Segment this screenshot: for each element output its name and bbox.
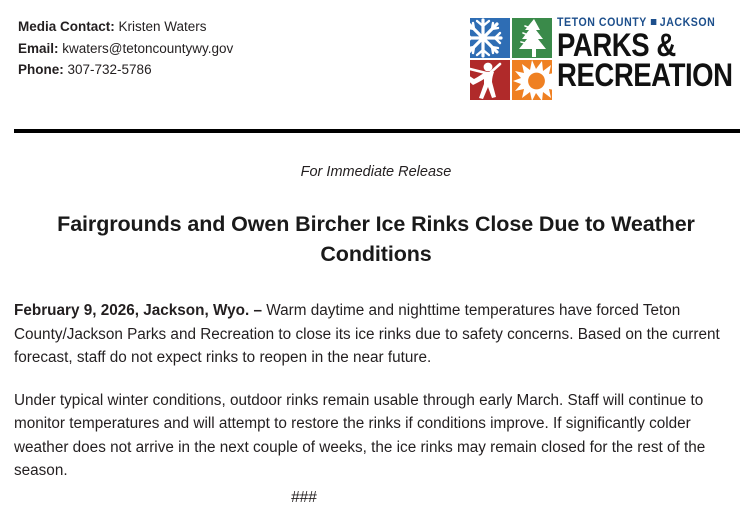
press-release-page: { "header": { "contact": [ { "label": "M…	[0, 0, 752, 515]
paragraph-one: February 9, 2026, Jackson, Wyo. – Warm d…	[14, 299, 738, 370]
document-header: Media Contact: Kristen Waters Email: kwa…	[0, 0, 752, 128]
person-figure-icon	[456, 58, 512, 102]
email-line: Email: kwaters@tetoncountywy.gov	[18, 38, 233, 60]
logo-tile-recreation-figure	[470, 60, 510, 100]
logo-tile-winter	[470, 18, 510, 58]
email-label: Email:	[18, 41, 59, 56]
logo-word-parks: PARKS &	[557, 30, 708, 60]
dateline: February 9, 2026, Jackson, Wyo. –	[14, 302, 262, 319]
end-of-release-mark: ###	[14, 487, 594, 509]
evergreen-tree-icon	[512, 17, 552, 59]
logo-mark	[466, 18, 554, 106]
page-title: Fairgrounds and Owen Bircher Ice Rinks C…	[44, 209, 708, 269]
logo-tile-sun	[512, 60, 552, 100]
phone-value: 307-732-5786	[64, 62, 152, 77]
logo-word-recreation: RECREATION	[557, 60, 708, 90]
for-immediate-release-label: For Immediate Release	[14, 162, 738, 182]
media-contact-label: Media Contact:	[18, 19, 115, 34]
snowflake-icon	[456, 16, 510, 60]
media-contact-line: Media Contact: Kristen Waters	[18, 16, 233, 38]
header-divider	[14, 129, 740, 133]
media-contact-block: Media Contact: Kristen Waters Email: kwa…	[18, 16, 233, 81]
media-contact-value: Kristen Waters	[115, 19, 207, 34]
document-body: For Immediate Release Fairgrounds and Ow…	[14, 150, 738, 509]
paragraph-two: Under typical winter conditions, outdoor…	[14, 389, 738, 483]
logo-wordmark: TETON COUNTYJACKSON PARKS & RECREATION	[557, 16, 732, 90]
parks-and-recreation-logo: TETON COUNTYJACKSON PARKS & RECREATION	[452, 10, 734, 110]
phone-line: Phone: 307-732-5786	[18, 59, 233, 81]
logo-tile-summer-tree	[512, 18, 552, 58]
phone-label: Phone:	[18, 62, 64, 77]
email-value: kwaters@tetoncountywy.gov	[59, 41, 234, 56]
logo-eyebrow-separator-icon	[651, 19, 657, 25]
